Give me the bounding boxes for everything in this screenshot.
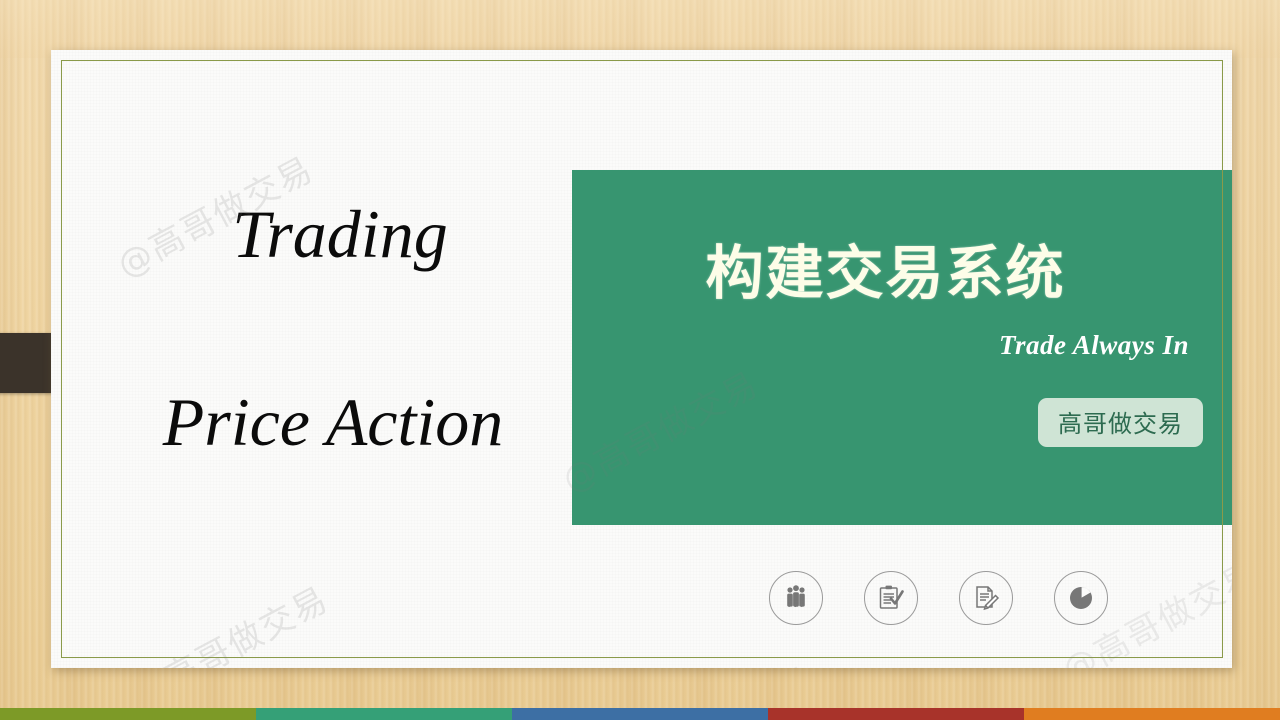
bottom-bar-segment-red (768, 708, 1024, 720)
slide-card: Trading Price Action 构建交易系统 Trade Always… (51, 50, 1232, 668)
clipboard-check-icon[interactable] (864, 571, 918, 625)
bottom-bar-segment-orange (1024, 708, 1280, 720)
bottom-bar-segment-teal (256, 708, 512, 720)
pie-chart-icon[interactable] (1054, 571, 1108, 625)
people-group-icon[interactable] (769, 571, 823, 625)
english-title-block: Trading Price Action (51, 200, 611, 456)
document-pencil-icon[interactable] (959, 571, 1013, 625)
bottom-bar-segment-olive (0, 708, 256, 720)
watermark: @高哥做交易 (607, 652, 821, 668)
english-title-line1: Trading (69, 200, 611, 268)
english-title-line2: Price Action (55, 388, 611, 456)
brand-badge: 高哥做交易 (1038, 398, 1203, 447)
chinese-title: 构建交易系统 (572, 226, 1199, 310)
watermark: @高哥做交易 (122, 572, 336, 668)
green-title-panel: 构建交易系统 Trade Always In 高哥做交易 @高哥做交易 (572, 170, 1232, 525)
bottom-color-bar (0, 708, 1280, 720)
bottom-bar-segment-blue (512, 708, 768, 720)
english-subtitle: Trade Always In (999, 330, 1189, 361)
icon-row (769, 571, 1108, 625)
